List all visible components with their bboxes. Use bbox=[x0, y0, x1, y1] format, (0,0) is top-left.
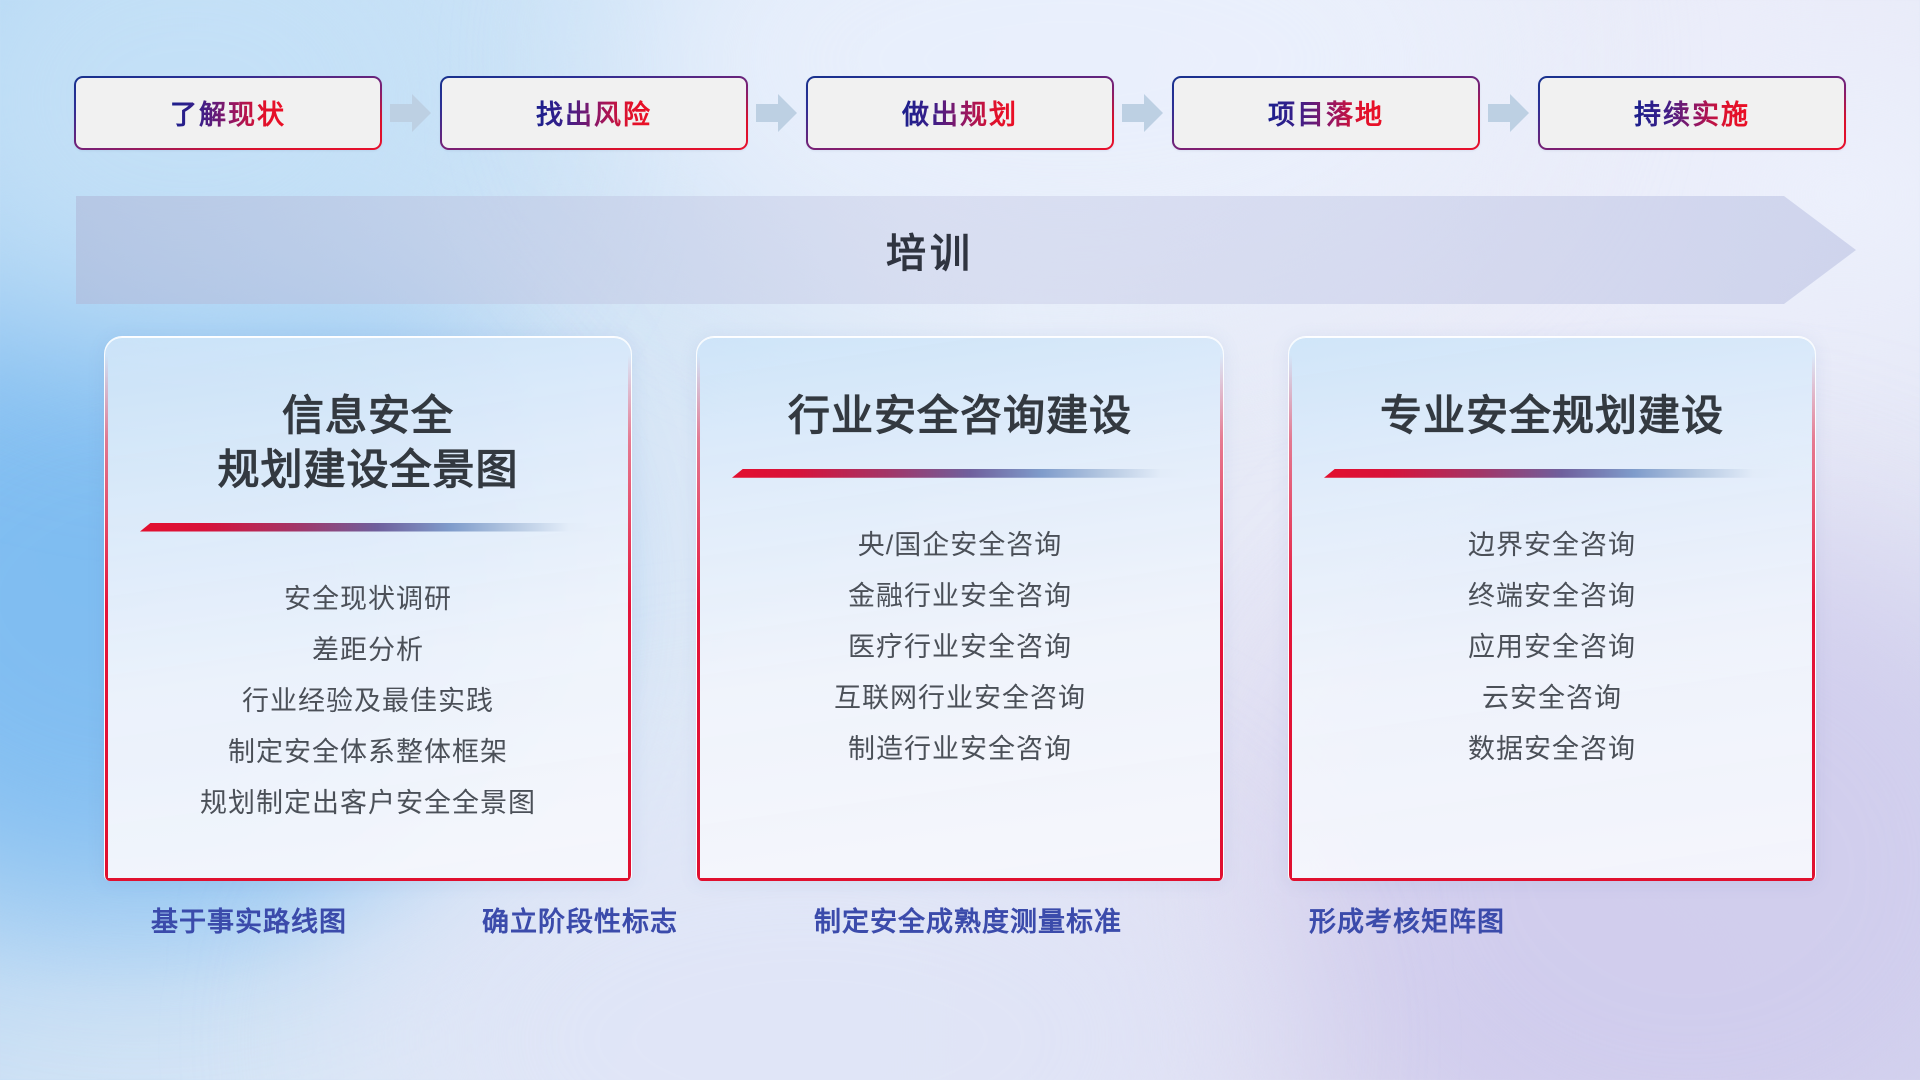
list-item[interactable]: 规划制定出客户安全全景图 bbox=[200, 778, 536, 829]
card-title-line2: 规划建设全景图 bbox=[217, 443, 518, 497]
list-item[interactable]: 制造行业安全咨询 bbox=[848, 724, 1072, 775]
list-item[interactable]: 制定安全体系整体框架 bbox=[228, 727, 508, 778]
list-item[interactable]: 应用安全咨询 bbox=[1468, 622, 1636, 673]
footer-label-1: 基于事实路线图 bbox=[151, 900, 347, 939]
card-title: 行业安全咨询建设 bbox=[764, 389, 1156, 443]
step-box-5[interactable]: 持续实施 bbox=[1538, 76, 1846, 150]
card-title-line1: 专业安全规划建设 bbox=[1380, 392, 1724, 439]
card-item-list: 央/国企安全咨询金融行业安全咨询医疗行业安全咨询互联网行业安全咨询制造行业安全咨… bbox=[697, 520, 1223, 775]
card-title: 信息安全规划建设全景图 bbox=[193, 389, 542, 497]
list-item[interactable]: 差距分析 bbox=[312, 625, 424, 676]
card-divider bbox=[732, 469, 1188, 478]
card-title-line1: 信息安全 bbox=[282, 392, 454, 439]
step-arrow-icon-4 bbox=[1480, 70, 1538, 155]
step-label: 持续实施 bbox=[1634, 93, 1750, 132]
service-card-1[interactable]: 信息安全规划建设全景图安全现状调研差距分析行业经验及最佳实践制定安全体系整体框架… bbox=[104, 336, 632, 881]
list-item[interactable]: 边界安全咨询 bbox=[1468, 520, 1636, 571]
service-card-3[interactable]: 专业安全规划建设边界安全咨询终端安全咨询应用安全咨询云安全咨询数据安全咨询 bbox=[1288, 336, 1816, 881]
step-label: 项目落地 bbox=[1268, 93, 1384, 132]
card-bottom-accent bbox=[697, 878, 1223, 881]
list-item[interactable]: 安全现状调研 bbox=[284, 574, 452, 625]
footer-label-2: 确立阶段性标志 bbox=[482, 900, 678, 939]
card-item-list: 安全现状调研差距分析行业经验及最佳实践制定安全体系整体框架规划制定出客户安全全景… bbox=[105, 574, 631, 829]
list-item[interactable]: 终端安全咨询 bbox=[1468, 571, 1636, 622]
footer-label-3: 制定安全成熟度测量标准 bbox=[814, 900, 1122, 939]
card-divider bbox=[1324, 469, 1780, 478]
list-item[interactable]: 互联网行业安全咨询 bbox=[834, 673, 1086, 724]
card-divider-bar bbox=[1324, 469, 1780, 478]
list-item[interactable]: 医疗行业安全咨询 bbox=[848, 622, 1072, 673]
footer-label-4: 形成考核矩阵图 bbox=[1309, 900, 1505, 939]
list-item[interactable]: 金融行业安全咨询 bbox=[848, 571, 1072, 622]
step-arrow-icon-2 bbox=[748, 70, 806, 155]
step-label: 找出风险 bbox=[536, 93, 652, 132]
step-label: 做出规划 bbox=[902, 93, 1018, 132]
card-item-list: 边界安全咨询终端安全咨询应用安全咨询云安全咨询数据安全咨询 bbox=[1289, 520, 1815, 775]
background-blob-topleft bbox=[0, 0, 500, 360]
list-item[interactable]: 云安全咨询 bbox=[1482, 673, 1622, 724]
card-divider bbox=[140, 523, 596, 532]
list-item[interactable]: 行业经验及最佳实践 bbox=[242, 676, 494, 727]
list-item[interactable]: 央/国企安全咨询 bbox=[858, 520, 1063, 571]
step-box-1[interactable]: 了解现状 bbox=[74, 76, 382, 150]
step-label: 了解现状 bbox=[170, 93, 286, 132]
step-box-4[interactable]: 项目落地 bbox=[1172, 76, 1480, 150]
step-box-3[interactable]: 做出规划 bbox=[806, 76, 1114, 150]
card-bottom-accent bbox=[1289, 878, 1815, 881]
service-card-2[interactable]: 行业安全咨询建设央/国企安全咨询金融行业安全咨询医疗行业安全咨询互联网行业安全咨… bbox=[696, 336, 1224, 881]
banner-title: 培训 bbox=[76, 196, 1856, 304]
footer-label-row: 基于事实路线图确立阶段性标志制定安全成熟度测量标准形成考核矩阵图 bbox=[0, 900, 1920, 970]
card-row: 信息安全规划建设全景图安全现状调研差距分析行业经验及最佳实践制定安全体系整体框架… bbox=[0, 336, 1920, 881]
step-box-2[interactable]: 找出风险 bbox=[440, 76, 748, 150]
training-banner: 培训 bbox=[76, 196, 1856, 304]
card-title-line1: 行业安全咨询建设 bbox=[788, 392, 1132, 439]
process-step-row: 了解现状找出风险做出规划项目落地持续实施 bbox=[0, 70, 1920, 155]
card-title: 专业安全规划建设 bbox=[1356, 389, 1748, 443]
step-arrow-icon-3 bbox=[1114, 70, 1172, 155]
card-bottom-accent bbox=[105, 878, 631, 881]
card-divider-bar bbox=[140, 523, 596, 532]
list-item[interactable]: 数据安全咨询 bbox=[1468, 724, 1636, 775]
step-arrow-icon-1 bbox=[382, 70, 440, 155]
card-divider-bar bbox=[732, 469, 1188, 478]
